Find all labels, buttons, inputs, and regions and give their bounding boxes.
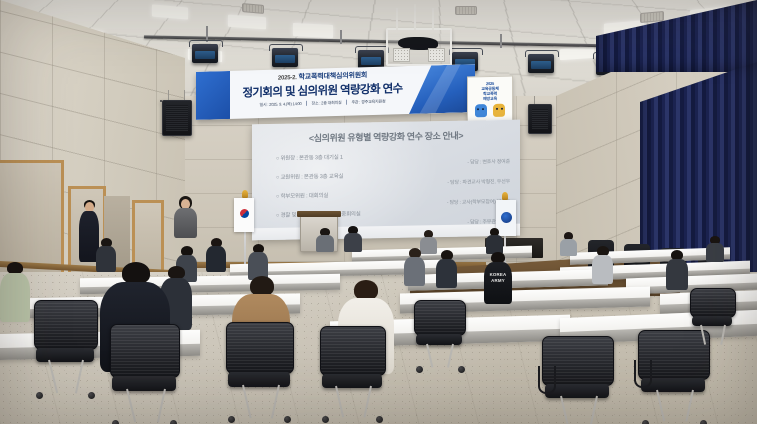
chair-base-leg: [271, 385, 280, 419]
audience-member: [248, 244, 268, 280]
truss-drop-rod: [340, 30, 342, 44]
truss-drop-rod: [500, 34, 502, 48]
chair-base-leg: [242, 385, 252, 419]
empty-chair[interactable]: [320, 326, 386, 424]
audience-member: [560, 232, 577, 256]
chair-base-leg: [126, 389, 136, 422]
empty-chair[interactable]: [414, 300, 466, 372]
banner-detail-host: 주관 : 경주교육지원청: [346, 98, 389, 104]
speaker-hanger: [184, 90, 185, 100]
equipment-vent: [393, 48, 410, 62]
yellow-mascot-icon: [493, 104, 505, 117]
chair-caster: [642, 420, 649, 424]
audience-body: [206, 246, 226, 272]
stage-light: [192, 44, 218, 63]
chair-caster: [228, 416, 235, 423]
cage-support-rail: [396, 8, 398, 30]
chair-caster: [416, 366, 423, 373]
chair-base-leg: [656, 390, 665, 422]
ceiling-air-vent: [455, 6, 477, 15]
chair-caster: [88, 392, 95, 399]
chair-base-leg: [75, 360, 84, 394]
audience-member: [706, 236, 724, 262]
chair-seat: [322, 374, 382, 388]
audience-body: [0, 273, 30, 322]
chair-seat: [36, 348, 94, 362]
empty-chair[interactable]: [34, 300, 98, 400]
agency-emblem-icon: [501, 212, 512, 223]
audience-member-korea-army: KOREA ARMY: [484, 252, 512, 304]
cage-support-rail: [432, 8, 434, 30]
chair-base-leg: [700, 325, 706, 345]
chair-back: [414, 300, 466, 336]
chair-caster: [322, 416, 329, 423]
banner-detail-location: 장소 : 2층 대회의실: [306, 100, 345, 106]
ceiling-light-panel: [293, 23, 333, 38]
cage-support-rail: [414, 4, 416, 30]
chair-caster: [112, 420, 119, 424]
podium-top-surface: [297, 211, 341, 217]
chair-armrest: [538, 366, 556, 394]
wall-speaker-corner: [160, 100, 162, 102]
banner-blue-block: [196, 71, 230, 120]
presenter-woman: [172, 196, 198, 238]
chair-caster: [700, 420, 707, 424]
equipment-vent: [428, 48, 445, 62]
chair-base-leg: [685, 390, 694, 422]
audience-body: [344, 233, 362, 252]
banner-detail-datetime: 일시 : 2025. 9. 4.(목) 14:00: [255, 101, 305, 107]
audience-body: [316, 235, 334, 252]
korea-army-shirt-text: KOREA ARMY: [484, 272, 512, 283]
projector-equipment-cage: [386, 28, 452, 66]
chair-armrest: [634, 360, 652, 388]
audience-member: [592, 246, 613, 284]
korean-flag-cloth: [234, 198, 254, 232]
audience-member: [436, 250, 457, 288]
chair-caster: [170, 420, 177, 424]
chair-back: [690, 288, 736, 318]
audience-member: [0, 262, 30, 322]
audience-member: [344, 226, 362, 252]
flag-finial-right: [502, 192, 508, 200]
chair-base-leg: [426, 344, 433, 368]
chair-base-leg: [720, 325, 726, 345]
audience-body: [404, 257, 425, 286]
chair-base-leg: [335, 386, 344, 418]
audience-hair: [122, 262, 150, 284]
door-frame-left[interactable]: [0, 160, 64, 275]
chair-seat: [416, 334, 462, 345]
speaker-hanger: [168, 90, 169, 100]
chair-seat: [228, 372, 290, 387]
audience-body: [592, 255, 613, 284]
audience-member: [486, 228, 503, 254]
chair-base-leg: [363, 386, 372, 418]
banner-year: 2025-2.: [278, 75, 297, 82]
audience-member: [316, 228, 334, 252]
wall-speaker: [162, 100, 192, 136]
slide-note: - 담당 : 변호사 정여준: [372, 158, 510, 167]
audience-body: [666, 259, 688, 290]
banner-organization: 학교폭력대책심의위원회: [299, 72, 368, 81]
chair-base-leg: [48, 360, 58, 393]
audience-member: [666, 250, 688, 290]
empty-chair[interactable]: [690, 288, 736, 348]
stage-light: [528, 54, 554, 73]
chair-back: [110, 324, 180, 378]
chair-base-leg: [447, 344, 454, 368]
presenter-body: [174, 208, 197, 238]
wall-poster: 2025 교육공동체 학교폭력 예방교육: [467, 76, 513, 127]
chair-back: [320, 326, 386, 376]
audience-member: [404, 248, 425, 286]
chair-back: [34, 300, 98, 350]
chair-back: [226, 322, 294, 374]
projection-screen: <심의위원 유형별 역량강화 연수 장소 안내> ○ 위원장 : 본관동 3층 …: [252, 120, 520, 241]
audience-hair: [354, 280, 378, 300]
chair-base-leg: [560, 396, 569, 424]
audience-member: [206, 238, 226, 272]
audience-body: [706, 243, 724, 262]
audience-body: [436, 259, 457, 288]
conference-room-photo: 2025-2. 학교폭력대책심의위원회 정기회의 및 심의위원 역량강화 연수 …: [0, 0, 757, 424]
event-banner: 2025-2. 학교폭력대책심의위원회 정기회의 및 심의위원 역량강화 연수 …: [196, 64, 475, 120]
blue-mascot-icon: [475, 104, 487, 117]
ceiling-light-panel: [228, 15, 266, 30]
taeguk-symbol: [240, 209, 249, 218]
empty-chair[interactable]: [542, 336, 614, 424]
chair-base-leg: [589, 396, 598, 424]
ceiling-air-vent: [242, 3, 264, 14]
chair-caster: [36, 392, 43, 399]
chair-caster: [284, 416, 291, 423]
chair-caster: [458, 366, 465, 373]
stage-light: [272, 48, 298, 67]
empty-chair[interactable]: [110, 324, 180, 424]
wall-speaker: [528, 104, 552, 134]
slide-note: - 담당 : 파견교사 박형진, 우선우: [372, 178, 510, 187]
audience-hair: [250, 276, 274, 296]
chair-base-leg: [157, 389, 166, 423]
flag-finial-left: [242, 190, 248, 198]
poster-text: 2025 교육공동체 학교폭력 예방교육: [468, 81, 512, 102]
slide-note: - 담당 : 교사(학부모참여) 박경호: [372, 198, 510, 207]
ceiling-air-vent: [640, 11, 664, 23]
chair-seat: [112, 376, 176, 391]
empty-chair[interactable]: [226, 322, 294, 422]
poster-line-4: 예방교육: [468, 96, 512, 102]
audience-body: [560, 239, 577, 256]
chair-caster: [376, 416, 383, 423]
